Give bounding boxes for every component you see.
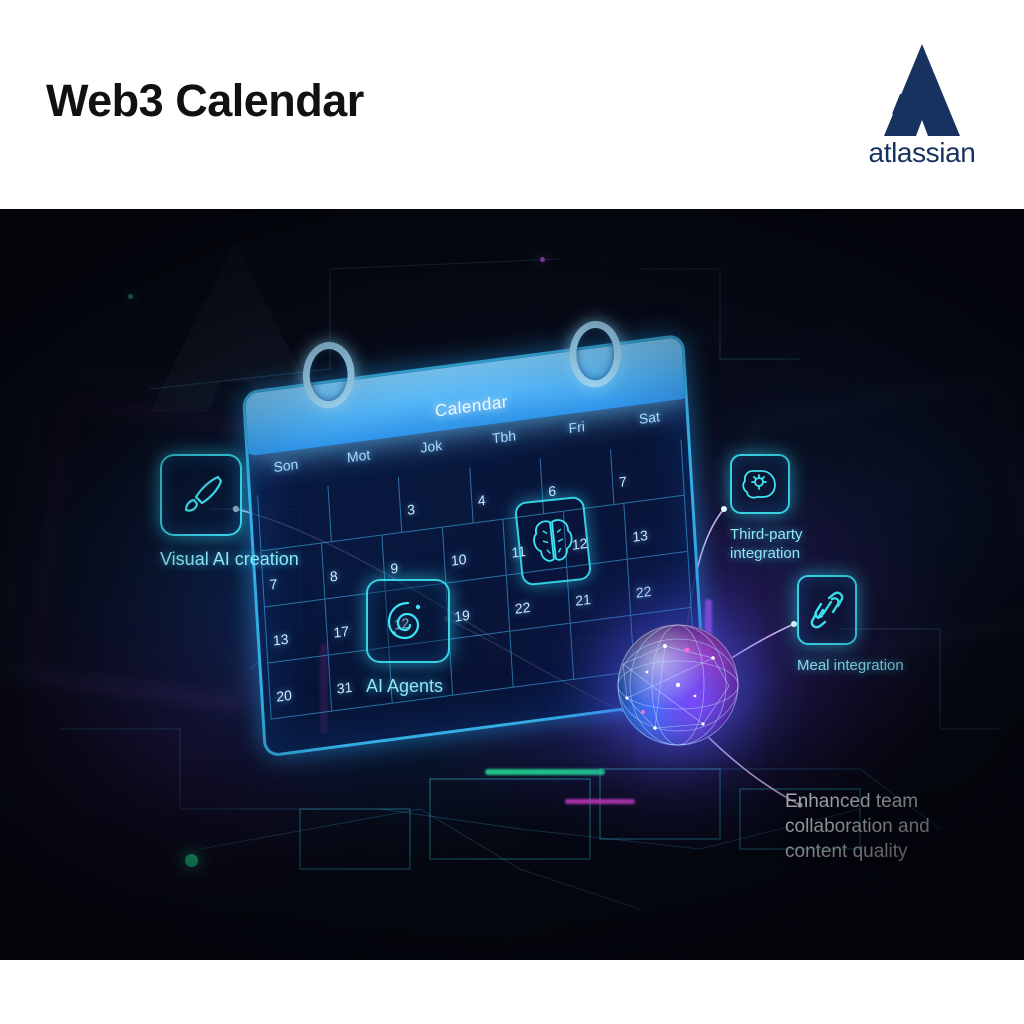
callout-visual-ai-creation[interactable]: Visual AI creation xyxy=(160,454,299,571)
atlassian-logo: atlassian xyxy=(852,42,992,174)
paintbrush-icon xyxy=(178,472,224,518)
hero-caption: Enhanced team collaboration and content … xyxy=(785,789,985,864)
day-number: 8 xyxy=(330,568,339,585)
chain-link-icon xyxy=(809,590,845,630)
day-name: Tbh xyxy=(467,424,541,462)
spiral-fingerprint-icon xyxy=(382,595,434,647)
callout-label: Third-party integration xyxy=(730,526,803,564)
accent-dot-teal xyxy=(128,294,133,299)
day-number: 10 xyxy=(450,551,466,569)
day-number: 9 xyxy=(390,560,399,577)
network-globe[interactable] xyxy=(617,624,739,746)
day-number: 22 xyxy=(635,583,651,601)
page-title: Web3 Calendar xyxy=(46,78,364,123)
day-number: 21 xyxy=(575,591,591,609)
callout-label: AI Agents xyxy=(366,675,450,698)
calendar-day-cell[interactable]: 19 xyxy=(446,576,510,640)
calendar-day-cell[interactable]: 10 xyxy=(443,520,507,584)
calendar-day-cell[interactable] xyxy=(450,632,514,696)
callout-ai-agents[interactable]: AI Agents xyxy=(366,579,450,698)
callout-label: Visual AI creation xyxy=(160,548,299,571)
brain-icon xyxy=(529,514,578,568)
calendar-day-cell[interactable]: 22 xyxy=(628,552,692,616)
day-number: 31 xyxy=(336,679,352,697)
brain-chip-icon xyxy=(741,465,779,503)
day-name: Mot xyxy=(322,443,396,481)
accent-dot-purple xyxy=(540,257,545,262)
day-name: Fri xyxy=(540,414,614,452)
calendar-day-cell[interactable]: 3 xyxy=(399,468,473,533)
atlassian-wordmark: atlassian xyxy=(852,138,992,169)
day-number: 17 xyxy=(333,623,349,641)
callout-label: Meal integration xyxy=(797,657,904,676)
day-number: 13 xyxy=(632,527,648,545)
day-number: 7 xyxy=(618,473,627,490)
spiral-fingerprint-icon-box[interactable] xyxy=(366,579,450,663)
calendar-day-cell[interactable]: 20 xyxy=(267,656,332,720)
accent-bar-green xyxy=(485,769,605,775)
day-number: 6 xyxy=(548,482,557,499)
page-header: Web3 Calendar atlassian xyxy=(0,0,1024,209)
day-name: Sat xyxy=(613,405,687,443)
calendar-day-cell[interactable] xyxy=(510,624,574,688)
accent-bar-magenta-bottom xyxy=(565,799,635,804)
day-number: 13 xyxy=(272,631,288,649)
callout-third-party-integration[interactable]: Third-party integration xyxy=(730,454,803,564)
day-number: 19 xyxy=(454,607,470,625)
day-number: 22 xyxy=(514,599,530,617)
callout-real-integration[interactable]: Meal integration xyxy=(797,575,904,676)
calendar-day-cell[interactable]: 7 xyxy=(611,440,685,505)
day-name: Jok xyxy=(394,434,468,472)
chain-link-icon-box[interactable] xyxy=(797,575,857,645)
globe-network-lines xyxy=(617,624,739,746)
brain-chip-icon-box[interactable] xyxy=(730,454,790,514)
hero-illustration: Calendar Son Mot Jok Tbh Fri Sat 3 4 6 7 xyxy=(0,209,1024,960)
day-number: 3 xyxy=(407,501,416,518)
calendar-day-cell[interactable]: 13 xyxy=(264,599,329,663)
atlassian-a-icon xyxy=(852,42,992,138)
day-number: 20 xyxy=(276,687,292,705)
calendar-day-cell[interactable] xyxy=(329,477,403,542)
calendar-day-cell[interactable]: 13 xyxy=(624,496,688,560)
day-number: 4 xyxy=(477,492,486,509)
paintbrush-icon-box[interactable] xyxy=(160,454,242,536)
brain-icon-card[interactable] xyxy=(514,496,592,587)
accent-dot-green xyxy=(185,854,198,867)
day-number: 7 xyxy=(269,576,278,593)
